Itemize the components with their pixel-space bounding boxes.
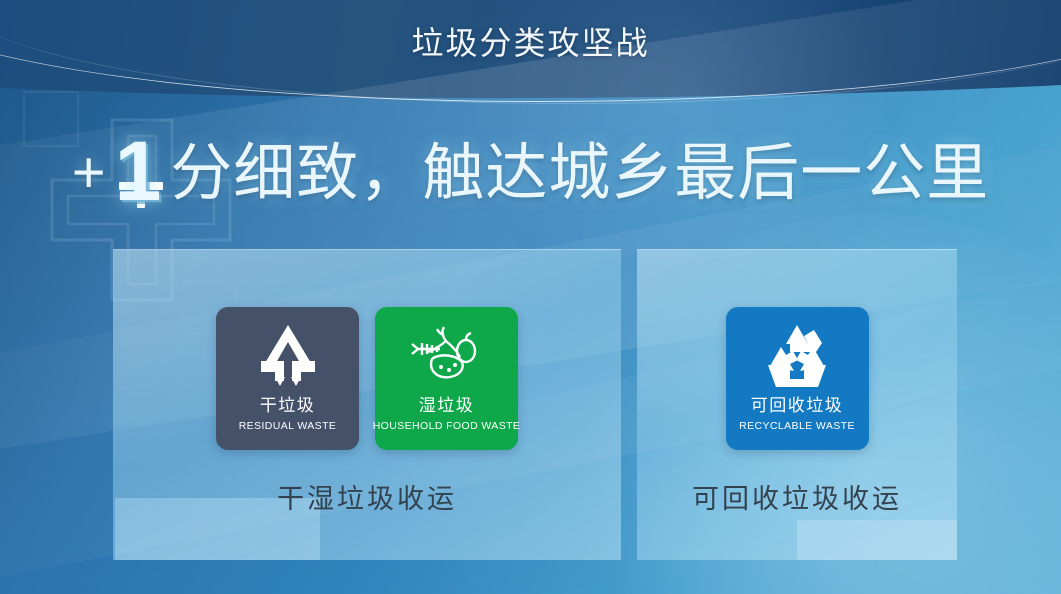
waste-tiles-row: 可回收垃圾 RECYCLABLE WASTE [637, 307, 957, 450]
headline: +1分细致，触达城乡最后一公里 [0, 128, 1061, 217]
food-waste-icon [410, 319, 484, 391]
headline-plus-glyph: + [72, 140, 107, 205]
waste-tile-food[interactable]: 湿垃圾 HOUSEHOLD FOOD WASTE [375, 307, 518, 450]
waste-tile-label-cn: 可回收垃圾 [751, 395, 844, 417]
panel-caption-dry-wet: 干湿垃圾收运 [113, 482, 621, 516]
waste-tile-residual[interactable]: 干垃圾 RESIDUAL WASTE [216, 307, 359, 450]
panel-recyclable-collection[interactable]: 可回收垃圾 RECYCLABLE WASTE 可回收垃圾收运 [637, 249, 957, 560]
recycle-icon [760, 319, 834, 391]
waste-tile-label-en: HOUSEHOLD FOOD WASTE [373, 419, 521, 433]
panel-dry-wet-collection[interactable]: 干垃圾 RESIDUAL WASTE [113, 249, 621, 560]
page-title: 垃圾分类攻坚战 [0, 22, 1061, 64]
waste-tile-label-en: RECYCLABLE WASTE [739, 419, 855, 433]
residual-waste-icon [251, 319, 325, 391]
panel-caption-recyclable: 可回收垃圾收运 [637, 482, 957, 516]
waste-tile-label-cn: 干垃圾 [260, 395, 316, 417]
waste-tile-label-cn: 湿垃圾 [419, 395, 475, 417]
waste-tile-recyclable[interactable]: 可回收垃圾 RECYCLABLE WASTE [726, 307, 869, 450]
waste-tiles-row: 干垃圾 RESIDUAL WASTE [113, 307, 621, 450]
slide-canvas: 垃圾分类攻坚战 +1分细致，触达城乡最后一公里 干垃圾 RESIDUAL WAS… [0, 0, 1061, 594]
headline-text: 分细致，触达城乡最后一公里 [170, 139, 989, 208]
waste-tile-label-en: RESIDUAL WASTE [239, 419, 337, 433]
headline-number: 1 [115, 124, 163, 218]
